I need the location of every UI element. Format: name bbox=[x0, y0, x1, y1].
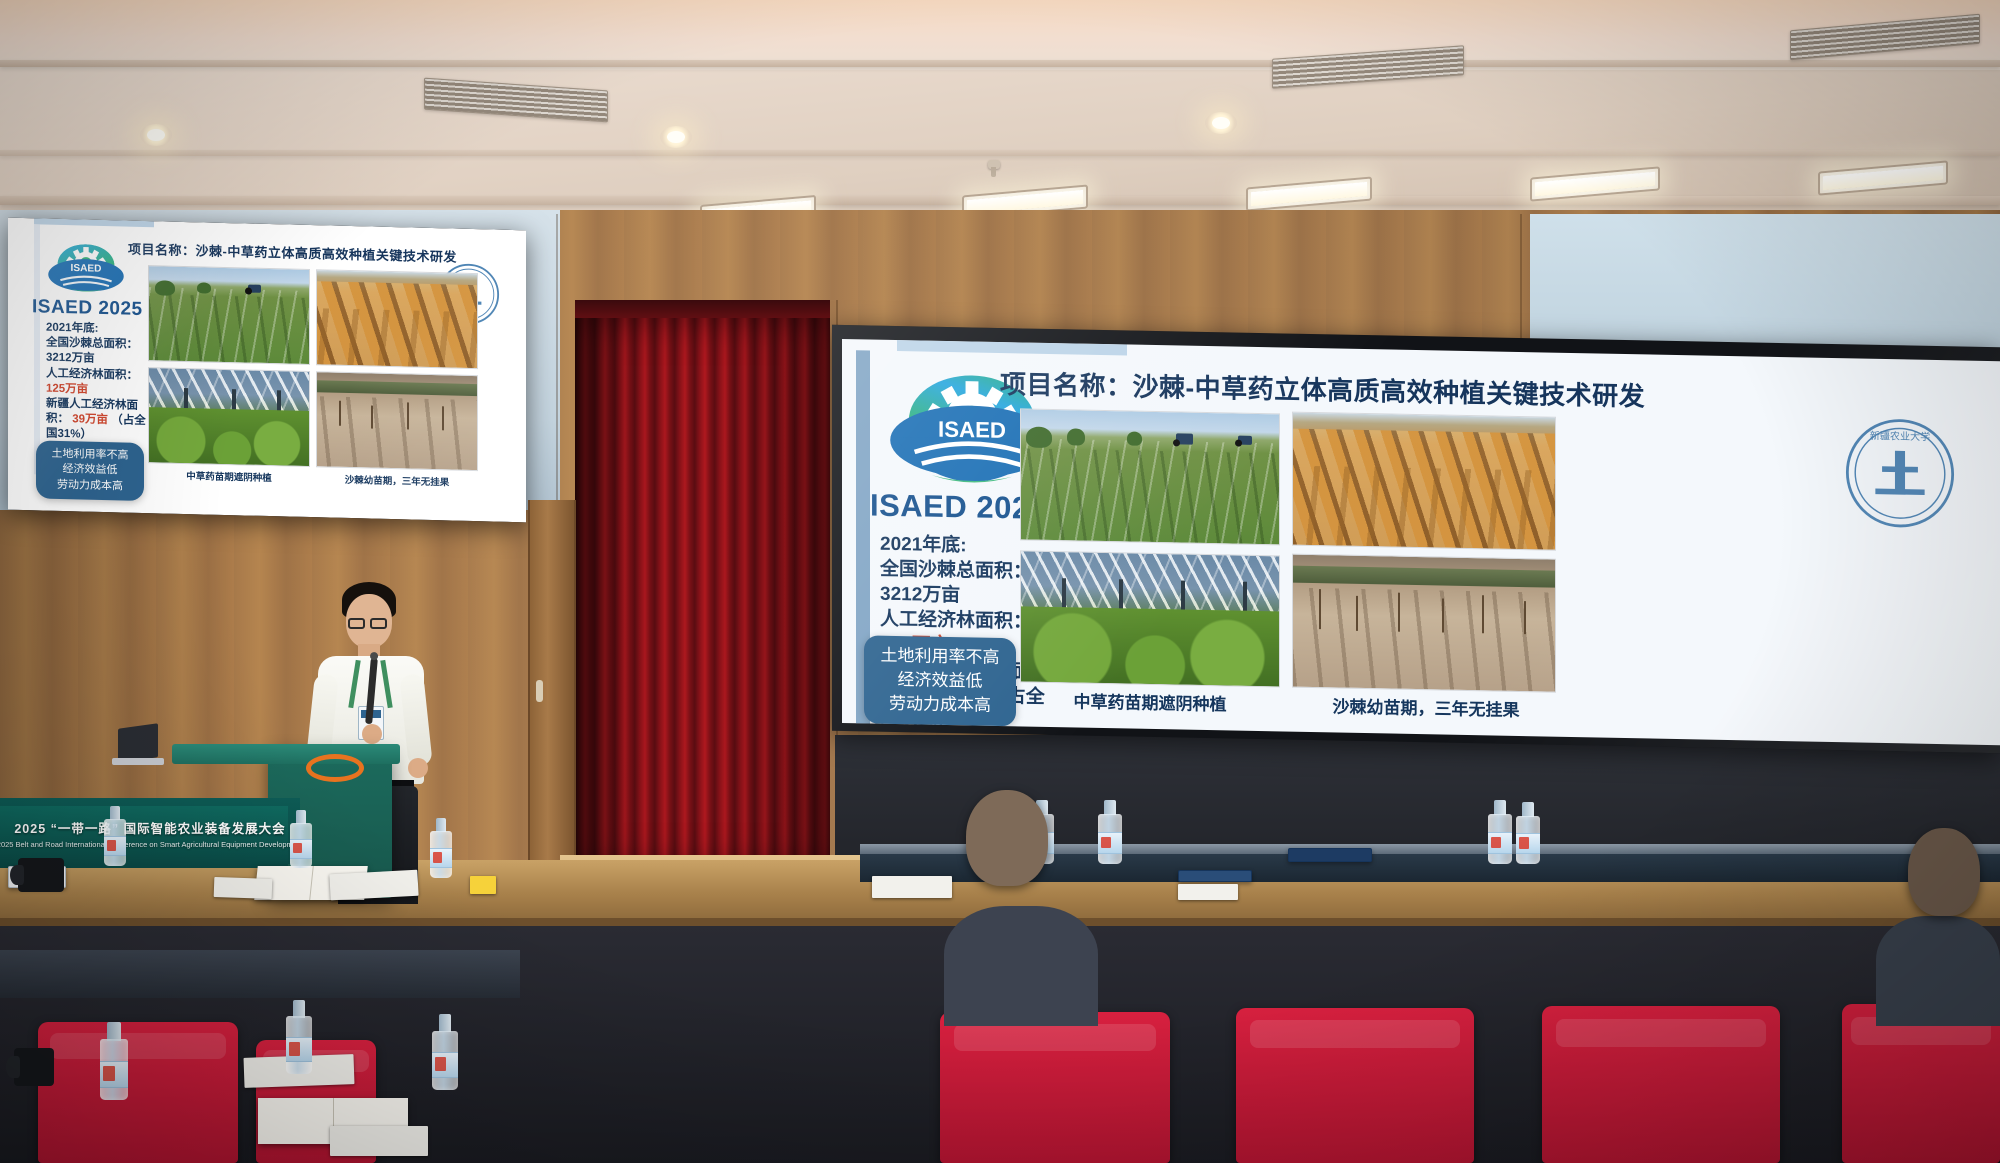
podium-top-surface bbox=[172, 744, 400, 764]
stat-line: 3212万亩 bbox=[46, 351, 146, 369]
audience-person-body bbox=[1876, 916, 2000, 1026]
slide-title: 项目名称：沙棘-中草药立体高质高效种植关键技术研发 bbox=[128, 239, 457, 266]
slide-photo-greenhouse bbox=[148, 367, 310, 467]
water-bottle bbox=[1516, 802, 1540, 864]
paper-sheet bbox=[1178, 884, 1238, 900]
left-projection-screen[interactable]: ISAED ISAED 2025 2021年底: 全国沙棘总面积： 3212万亩… bbox=[8, 218, 526, 523]
right-projection-screen[interactable]: ISAED ISAED 2025 2021年底: 全国沙棘总面积： 3212万亩… bbox=[832, 325, 2000, 753]
smoke-detector bbox=[988, 160, 1000, 169]
water-bottle bbox=[104, 806, 126, 866]
slide-left-strip bbox=[34, 224, 40, 474]
water-bottle bbox=[1098, 800, 1122, 864]
photo-caption-bottom-right: 沙棘幼苗期，三年无挂果 bbox=[308, 471, 486, 489]
water-bottle bbox=[290, 810, 312, 868]
audience-person-head bbox=[1908, 828, 1980, 916]
ceiling-beam bbox=[0, 60, 2000, 67]
paper-sheet bbox=[872, 876, 952, 898]
slide-title: 项目名称：沙棘-中草药立体高质高效种植关键技术研发 bbox=[1000, 364, 1645, 413]
right-slide: ISAED ISAED 2025 2021年底: 全国沙棘总面积： 3212万亩… bbox=[842, 339, 2000, 745]
audience-name-card bbox=[1178, 870, 1252, 882]
orange-ring-object bbox=[306, 754, 364, 782]
slide-callout: 土地利用率不高 经济效益低 劳动力成本高 bbox=[864, 635, 1016, 726]
slide-photo-greenhouse bbox=[1020, 550, 1280, 687]
paper-sheet bbox=[329, 870, 418, 901]
photo-caption-bottom-left: 中草药苗期遮阴种植 bbox=[1018, 686, 1282, 716]
slide-stats: 2021年底: 全国沙棘总面积： 3212万亩 人工经济林面积： 125万亩 新… bbox=[46, 321, 146, 445]
callout-line: 劳动力成本高 bbox=[870, 692, 1010, 719]
slide-topbar bbox=[897, 340, 1127, 355]
slide-photo-dry-orchard bbox=[1292, 412, 1556, 551]
stat-inline-highlight: 39万亩 bbox=[72, 413, 108, 426]
side-door[interactable] bbox=[528, 500, 576, 895]
presenter-hand-holding-mic bbox=[362, 724, 382, 744]
water-bottle bbox=[100, 1022, 128, 1100]
presenter-glasses bbox=[348, 618, 392, 630]
callout-line: 经济效益低 bbox=[870, 667, 1010, 694]
water-bottle bbox=[430, 818, 452, 878]
video-camera bbox=[18, 858, 64, 892]
water-bottle bbox=[432, 1014, 458, 1090]
ceiling-beam bbox=[0, 150, 2000, 156]
callout-line: 劳动力成本高 bbox=[42, 477, 138, 495]
conference-hall-scene: ISAED ISAED 2025 2021年底: 全国沙棘总面积： 3212万亩… bbox=[0, 0, 2000, 1163]
door-handle[interactable] bbox=[536, 680, 543, 702]
presenter-hand bbox=[408, 758, 428, 778]
photo-caption-bottom-right: 沙棘幼苗期，三年无挂果 bbox=[1292, 692, 1560, 722]
audience-chair bbox=[1542, 1006, 1780, 1163]
ceiling-downlight bbox=[140, 124, 172, 146]
audience-chair bbox=[1236, 1008, 1474, 1163]
left-slide: ISAED ISAED 2025 2021年底: 全国沙棘总面积： 3212万亩… bbox=[8, 218, 526, 523]
slide-photo-green-field bbox=[1020, 408, 1280, 545]
svg-text:ISAED: ISAED bbox=[938, 417, 1006, 443]
foreground-desk bbox=[0, 950, 520, 998]
svg-text:ISAED: ISAED bbox=[71, 263, 102, 275]
laptop-keyboard[interactable] bbox=[112, 758, 164, 765]
banner-title-cn: 2025 “一带一路” 国际智能农业装备发展大会 bbox=[14, 818, 285, 837]
slide-callout: 土地利用率不高 经济效益低 劳动力成本高 bbox=[36, 440, 144, 501]
svg-text:新疆农业大学: 新疆农业大学 bbox=[1870, 429, 1930, 443]
paper-sheet bbox=[214, 877, 273, 899]
audience-chair bbox=[940, 1012, 1170, 1163]
banner-title-en: 2025 Belt and Road International Confere… bbox=[0, 840, 303, 849]
audience-name-card bbox=[1288, 848, 1372, 862]
stage-curtain bbox=[575, 318, 830, 870]
audience-person-body bbox=[944, 906, 1098, 1026]
callout-line: 土地利用率不高 bbox=[870, 643, 1010, 670]
laptop-screen[interactable] bbox=[118, 723, 158, 763]
ceiling-downlight bbox=[660, 126, 692, 148]
slide-photo-sapling bbox=[316, 371, 478, 471]
isaed-year-label: ISAED 2025 bbox=[32, 296, 143, 321]
water-bottle bbox=[286, 1000, 312, 1074]
audience-chair bbox=[38, 1022, 238, 1163]
slide-photo-sapling bbox=[1292, 554, 1556, 693]
water-bottle bbox=[1488, 800, 1512, 864]
audience-chair bbox=[1842, 1004, 2000, 1163]
isaed-logo: ISAED bbox=[44, 233, 128, 297]
slide-photo-dry-orchard bbox=[316, 269, 478, 369]
paper-sheet bbox=[470, 876, 496, 894]
camera-on-tripod bbox=[14, 1048, 54, 1086]
audience-person-head bbox=[966, 790, 1048, 886]
photo-caption-bottom-left: 中草药苗期遮阴种植 bbox=[148, 467, 310, 485]
conference-banner: 2025 “一带一路” 国际智能农业装备发展大会 2025 Belt and R… bbox=[4, 806, 296, 860]
university-seal-icon: 新疆农业大学 bbox=[1844, 416, 1956, 530]
slide-photo-green-field bbox=[148, 265, 310, 365]
ceiling-downlight bbox=[1205, 112, 1237, 134]
paper-sheet bbox=[330, 1126, 428, 1156]
